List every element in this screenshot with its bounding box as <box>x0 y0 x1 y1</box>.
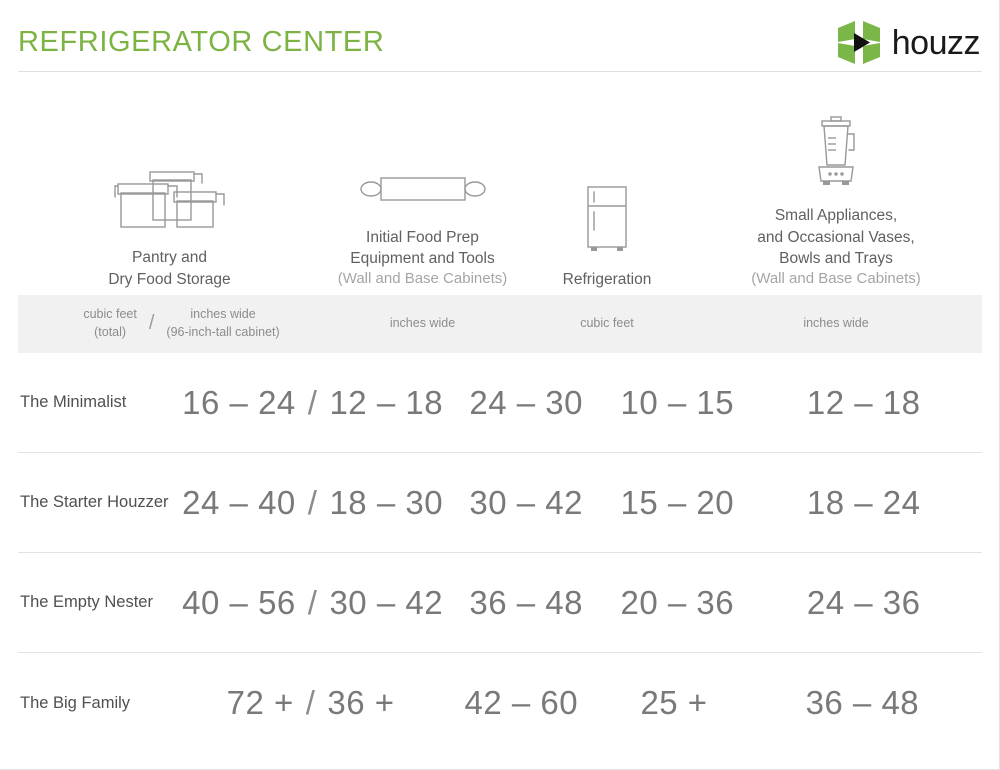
rolling-pin-icon <box>358 131 488 213</box>
cell-refrigeration: 15 – 20 <box>609 484 745 522</box>
cell-food-prep: 42 – 60 <box>437 684 605 722</box>
cell-food-prep: 24 – 30 <box>443 384 609 422</box>
cell-pantry-cubic-feet: 24 – 40 <box>182 484 296 522</box>
cell-pantry: 16 – 24 / 12 – 18 <box>182 384 443 422</box>
cell-separator: / <box>296 484 330 522</box>
cell-small-appliances: 18 – 24 <box>745 484 982 522</box>
units-small-appliances: inches wide <box>690 315 982 333</box>
units-separator: / <box>137 309 167 337</box>
cell-pantry: 72 + / 36 + <box>184 684 437 722</box>
cell-small-appliances: 12 – 18 <box>745 384 982 422</box>
category-refrigeration: Refrigeration <box>524 86 690 292</box>
cell-pantry-inches-wide: 18 – 30 <box>329 484 443 522</box>
cell-refrigeration: 10 – 15 <box>609 384 745 422</box>
cell-pantry-cubic-feet: 16 – 24 <box>182 384 296 422</box>
table-row: The Minimalist 16 – 24 / 12 – 18 24 – 30… <box>18 353 982 453</box>
cell-refrigeration: 25 + <box>605 684 742 722</box>
blender-icon <box>806 109 866 191</box>
category-food-prep-sublabel: (Wall and Base Cabinets) <box>338 269 508 290</box>
category-refrigeration-label: Refrigeration <box>563 269 652 290</box>
cell-separator: / <box>296 584 330 622</box>
cell-pantry: 40 – 56 / 30 – 42 <box>182 584 443 622</box>
houzz-logo: houzz <box>837 20 982 65</box>
category-pantry-label: Pantry and Dry Food Storage <box>108 247 230 290</box>
category-small-appliances-label: Small Appliances, and Occasional Vases, … <box>757 205 914 269</box>
units-food-prep: inches wide <box>321 315 524 333</box>
table-row: The Starter Houzzer 24 – 40 / 18 – 30 30… <box>18 453 982 553</box>
table-row: The Empty Nester 40 – 56 / 30 – 42 36 – … <box>18 553 982 653</box>
category-header-row: Pantry and Dry Food Storage Initial Food… <box>18 86 982 292</box>
row-label: The Minimalist <box>18 393 182 412</box>
row-label: The Empty Nester <box>18 593 182 612</box>
houzz-wordmark: houzz <box>892 26 980 60</box>
cell-small-appliances: 24 – 36 <box>745 584 982 622</box>
units-header-row: cubic feet (total) / inches wide (96-inc… <box>18 295 982 353</box>
page-title: REFRIGERATOR CENTER <box>18 26 384 59</box>
cell-separator: / <box>294 684 328 722</box>
refrigerator-icon <box>579 173 635 255</box>
category-pantry: Pantry and Dry Food Storage <box>18 86 321 292</box>
cell-pantry-inches-wide: 30 – 42 <box>329 584 443 622</box>
cell-pantry-cubic-feet: 72 + <box>227 684 294 722</box>
row-label: The Starter Houzzer <box>18 493 182 512</box>
header-bar: REFRIGERATOR CENTER houzz <box>18 14 982 72</box>
refrigerator-center-infographic: REFRIGERATOR CENTER houzz <box>0 0 1000 770</box>
units-pantry-inches-wide: inches wide (96-inch-tall cabinet) <box>166 306 279 342</box>
cell-pantry: 24 – 40 / 18 – 30 <box>182 484 443 522</box>
cell-food-prep: 36 – 48 <box>443 584 609 622</box>
cell-pantry-cubic-feet: 40 – 56 <box>182 584 296 622</box>
cell-small-appliances: 36 – 48 <box>743 684 982 722</box>
cell-separator: / <box>296 384 330 422</box>
cell-refrigeration: 20 – 36 <box>609 584 745 622</box>
data-rows: The Minimalist 16 – 24 / 12 – 18 24 – 30… <box>18 353 982 753</box>
houzz-mark-icon <box>837 20 881 65</box>
row-label: The Big Family <box>18 694 184 713</box>
units-refrigeration: cubic feet <box>524 315 690 333</box>
units-pantry-cubic-feet: cubic feet (total) <box>83 306 137 342</box>
units-pantry: cubic feet (total) / inches wide (96-inc… <box>18 306 321 342</box>
category-small-appliances: Small Appliances, and Occasional Vases, … <box>690 86 982 292</box>
cell-pantry-inches-wide: 36 + <box>327 684 394 722</box>
category-food-prep: Initial Food Prep Equipment and Tools (W… <box>321 86 524 292</box>
cell-food-prep: 30 – 42 <box>443 484 609 522</box>
table-row: The Big Family 72 + / 36 + 42 – 60 25 + … <box>18 653 982 753</box>
cell-pantry-inches-wide: 12 – 18 <box>329 384 443 422</box>
category-small-appliances-sublabel: (Wall and Base Cabinets) <box>751 269 921 290</box>
storage-containers-icon <box>112 151 228 233</box>
category-food-prep-label: Initial Food Prep Equipment and Tools <box>350 227 494 270</box>
